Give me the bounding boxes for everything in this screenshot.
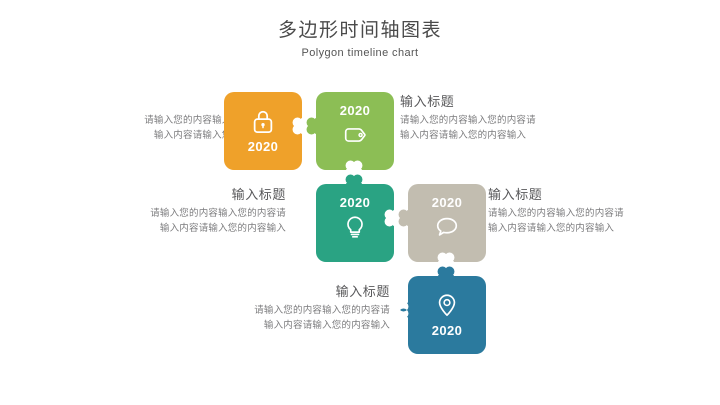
piece-green-shape — [316, 92, 394, 170]
piece-blue-shape — [408, 276, 486, 354]
page-title: 多边形时间轴图表 — [0, 18, 720, 44]
text-block-line: 请输入您的内容输入您的内容请 — [36, 206, 286, 221]
piece-gray-shape — [408, 184, 486, 262]
piece-teal-shape — [316, 184, 394, 262]
text-block-line: 输入内容请输入您的内容输入 — [400, 128, 650, 143]
text-block-line: 输入内容请输入您的内容输入 — [488, 221, 720, 236]
text-block-heading: 输入标题 — [400, 92, 650, 111]
text-block-line: 请输入您的内容输入您的内容请 — [140, 303, 390, 318]
piece-teal[interactable]: 2020 — [316, 184, 394, 262]
slide-header: 多边形时间轴图表 Polygon timeline chart — [0, 18, 720, 61]
text-block-line: 请输入您的内容输入您的内容请 — [488, 206, 720, 221]
text-block-2: 输入标题 请输入您的内容输入您的内容请 输入内容请输入您的内容输入 — [400, 92, 650, 143]
text-block-4: 输入标题 请输入您的内容输入您的内容请 输入内容请输入您的内容输入 — [488, 185, 720, 236]
text-block-heading: 输入标题 — [36, 185, 286, 204]
piece-orange-shape — [224, 92, 302, 170]
page-subtitle: Polygon timeline chart — [0, 46, 720, 61]
piece-gray[interactable]: 2020 — [408, 184, 486, 262]
text-block-3: 输入标题 请输入您的内容输入您的内容请 输入内容请输入您的内容输入 — [36, 185, 286, 236]
text-block-5: 输入标题 请输入您的内容输入您的内容请 输入内容请输入您的内容输入 — [140, 282, 390, 333]
piece-orange[interactable]: 2020 — [224, 92, 302, 170]
slide-canvas: 多边形时间轴图表 Polygon timeline chart 输入标题 请输入… — [0, 0, 720, 405]
text-block-line: 输入内容请输入您的内容输入 — [140, 318, 390, 333]
text-block-heading: 输入标题 — [140, 282, 390, 301]
piece-blue[interactable]: 2020 — [408, 276, 486, 354]
text-block-line: 请输入您的内容输入您的内容请 — [400, 113, 650, 128]
text-block-heading: 输入标题 — [488, 185, 720, 204]
text-block-line: 输入内容请输入您的内容输入 — [36, 221, 286, 236]
piece-green[interactable]: 2020 — [316, 92, 394, 170]
